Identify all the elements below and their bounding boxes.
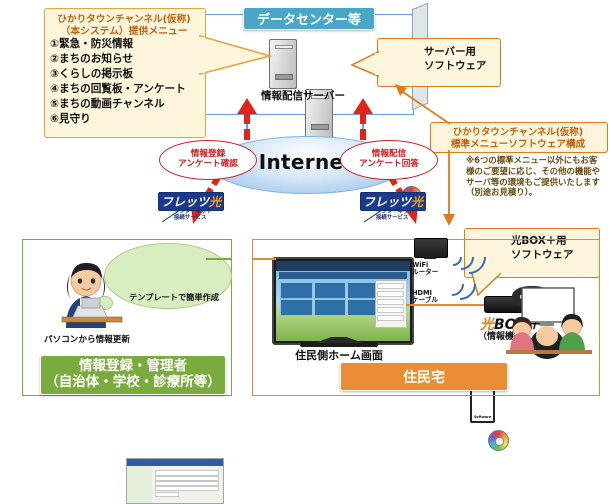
hdmi-cable-label: HDMI ケーブル [412,290,456,304]
wifi-router-label: WiFi ルーター [412,262,456,276]
flets-hikari-left: 光 [209,193,221,210]
menu-item: ②まちのお知らせ [50,52,202,67]
red-arrow-up-right [352,96,374,140]
admin-banner: 情報登録・管理者 （自治体・学校・診療所等） [40,355,226,395]
tv-tile [314,282,347,299]
pc-update-label: パソコンから情報更新 [44,333,184,345]
datacenter-banner: データセンター等 [243,7,375,30]
home-region-connector [252,258,276,260]
tv-tile [280,282,313,299]
template-thought-label: テンプレートで簡単作成 [116,291,232,303]
flets-sub-right: インターネット 接続サービス [376,210,436,221]
flow-label-right-line2: アンケート回答 [359,160,419,170]
flow-label-right: 情報配信 アンケート回答 [340,140,438,180]
flets-leader-left [160,208,182,224]
tv-tile [280,299,313,316]
std-menu-to-server-arrow [395,84,455,126]
menu-callout-items: ①緊急・防災情報 ②まちのお知らせ ③くらしの掲示板 ④まちの回覧板・アンケート… [50,37,202,127]
cd-disc-icon-2 [488,430,509,451]
menu-callout-title-2: （本システム）提供メニュー [46,23,202,36]
flow-label-left-line2: アンケート確認 [178,160,238,170]
wifi-router-stand [424,256,436,259]
admin-banner-line2: （自治体・学校・診療所等） [45,375,221,391]
menu-item: ④まちの回覧板・アンケート [50,82,202,97]
std-menu-callout-title-2: 標準メニューソフトウェア構成 [431,136,605,149]
tv-label: 住民側ホーム画面 [272,348,406,362]
tv-tile [314,299,347,316]
template-screenshot [126,458,224,504]
menu-item: ③くらしの掲示板 [50,67,202,82]
std-menu-to-box-arrow [440,150,466,228]
datacenter-banner-label: データセンター等 [257,9,361,28]
flow-label-left: 情報登録 アンケート確認 [159,140,257,180]
admin-region-connector [206,258,232,260]
server-label: 情報配信サーバー [248,88,358,102]
server-software-callout-pointer [350,52,380,78]
server-software-callout-label: サーバー用 ソフトウェア [424,45,498,73]
tv-set [272,257,414,345]
home-banner-label: 住民宅 [403,367,445,387]
menu-item: ⑥見守り [50,112,202,127]
std-menu-note: ※6つの標準メニュー以外にもお客様のご要望に応じ、その他の機能やサーバ等の環境も… [466,155,600,198]
flets-sub-left: インターネット 接続サービス [174,210,234,221]
home-banner: 住民宅 [340,362,508,391]
family-illustration [500,288,596,354]
red-arrow-up-left [236,96,258,140]
admin-person-illustration [52,262,126,330]
flets-hikari-right: 光 [411,193,423,210]
menu-item: ⑤まちの動画チャンネル [50,97,202,112]
menu-item: ①緊急・防災情報 [50,37,202,52]
menu-callout-pointer [200,34,278,76]
flets-leader-right [362,208,384,224]
admin-banner-line1: 情報登録・管理者 [45,359,221,375]
